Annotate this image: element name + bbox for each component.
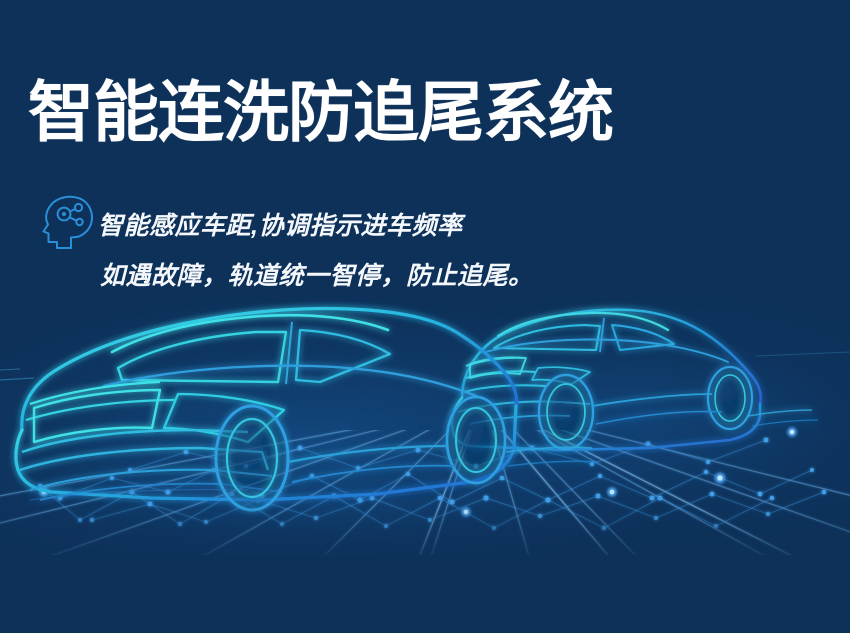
- subtitle-block: 智能感应车距,协调指示进车频率 如遇故障，轨道统一智停，防止追尾。: [98, 201, 658, 301]
- subtitle-line-2: 如遇故障，轨道统一智停，防止追尾。: [98, 251, 658, 301]
- page-title: 智能连洗防追尾系统: [28, 79, 613, 145]
- brain-network-icon: [40, 193, 96, 251]
- poster-root: 智能连洗防追尾系统 智能感应车距,协调指示进车频率 如遇故障，轨道统一智停，防止…: [0, 0, 850, 633]
- subtitle-line-1: 智能感应车距,协调指示进车频率: [98, 201, 658, 251]
